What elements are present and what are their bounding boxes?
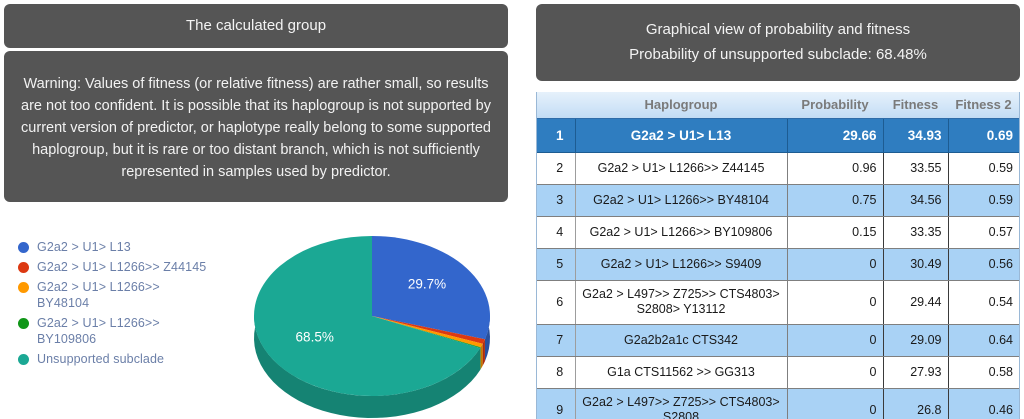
pie-top-layer [254, 236, 490, 396]
row-spacer [537, 324, 545, 356]
cell-probability: 0 [787, 324, 883, 356]
cell-fitness: 29.09 [883, 324, 948, 356]
table-row[interactable]: 5G2a2 > U1> L1266>> S9409030.490.56 [537, 248, 1019, 280]
warning-message: Warning: Values of fitness (or relative … [20, 73, 492, 183]
pie-slice-label: 29.7% [408, 276, 446, 291]
cell-fitness: 33.35 [883, 216, 948, 248]
cell-probability: 0.75 [787, 184, 883, 216]
row-spacer [537, 388, 545, 419]
legend-color-swatch-icon [18, 242, 29, 253]
cell-fitness2: 0.59 [948, 152, 1019, 184]
table-row[interactable]: 1G2a2 > U1> L1329.6634.930.69 [537, 118, 1019, 152]
row-spacer [537, 248, 545, 280]
pie-chart: 29.7%68.5% [232, 214, 512, 419]
graphical-view-panel: Graphical view of probability and fitnes… [536, 4, 1020, 81]
cell-fitness2: 0.56 [948, 248, 1019, 280]
cell-haplogroup: G2a2 > U1> L1266>> S9409 [575, 248, 787, 280]
results-table: Haplogroup Probability Fitness Fitness 2… [537, 92, 1019, 419]
legend-item-label: G2a2 > U1> L1266>> BY109806 [37, 315, 208, 347]
results-table-body: 1G2a2 > U1> L1329.6634.930.692G2a2 > U1>… [537, 118, 1019, 419]
cell-haplogroup: G2a2 > U1> L13 [575, 118, 787, 152]
pie-slice-depth [481, 344, 483, 370]
cell-fitness2: 0.54 [948, 280, 1019, 324]
cell-haplogroup: G2a2b2a1c CTS342 [575, 324, 787, 356]
legend-color-swatch-icon [18, 262, 29, 273]
pie-chart-legend: G2a2 > U1> L13G2a2 > U1> L1266>> Z44145G… [18, 239, 208, 371]
cell-fitness: 34.93 [883, 118, 948, 152]
cell-fitness2: 0.59 [948, 184, 1019, 216]
cell-probability: 0 [787, 248, 883, 280]
cell-fitness: 34.56 [883, 184, 948, 216]
row-spacer [537, 280, 545, 324]
results-table-container[interactable]: Haplogroup Probability Fitness Fitness 2… [536, 92, 1020, 419]
table-row[interactable]: 7G2a2b2a1c CTS342029.090.64 [537, 324, 1019, 356]
cell-probability: 0 [787, 280, 883, 324]
header-probability[interactable]: Probability [787, 92, 883, 118]
calculated-group-title: The calculated group [186, 17, 326, 34]
row-spacer [537, 152, 545, 184]
legend-item[interactable]: G2a2 > U1> L1266>> Z44145 [18, 259, 208, 275]
cell-fitness2: 0.69 [948, 118, 1019, 152]
cell-probability: 0 [787, 388, 883, 419]
cell-fitness: 29.44 [883, 280, 948, 324]
legend-color-swatch-icon [18, 282, 29, 293]
page-root: The calculated group Warning: Values of … [0, 0, 1024, 419]
row-index: 2 [545, 152, 575, 184]
legend-color-swatch-icon [18, 318, 29, 329]
header-fitness[interactable]: Fitness [883, 92, 948, 118]
cell-haplogroup: G2a2 > U1> L1266>> BY48104 [575, 184, 787, 216]
table-row[interactable]: 3G2a2 > U1> L1266>> BY481040.7534.560.59 [537, 184, 1019, 216]
pie-slice-label: 68.5% [296, 329, 334, 344]
legend-item-label: Unsupported subclade [37, 351, 164, 367]
row-index: 9 [545, 388, 575, 419]
legend-item[interactable]: G2a2 > U1> L1266>> BY48104 [18, 279, 208, 311]
row-index: 8 [545, 356, 575, 388]
cell-fitness2: 0.58 [948, 356, 1019, 388]
unsupported-subclade-probability: Probability of unsupported subclade: 68.… [536, 42, 1020, 68]
legend-item-label: G2a2 > U1> L1266>> Z44145 [37, 259, 206, 275]
legend-item[interactable]: G2a2 > U1> L13 [18, 239, 208, 255]
cell-haplogroup: G2a2 > L497>> Z725>> CTS4803> S2808 [575, 388, 787, 419]
header-haplogroup[interactable]: Haplogroup [575, 92, 787, 118]
cell-haplogroup: G1a CTS11562 >> GG313 [575, 356, 787, 388]
legend-color-swatch-icon [18, 354, 29, 365]
pie-chart-area: G2a2 > U1> L13G2a2 > U1> L1266>> Z44145G… [0, 210, 512, 419]
row-spacer [537, 216, 545, 248]
pie-chart-svg: 29.7%68.5% [232, 214, 512, 419]
cell-probability: 0.15 [787, 216, 883, 248]
cell-fitness: 27.93 [883, 356, 948, 388]
table-row[interactable]: 8G1a CTS11562 >> GG313027.930.58 [537, 356, 1019, 388]
table-row[interactable]: 6G2a2 > L497>> Z725>> CTS4803> S2808> Y1… [537, 280, 1019, 324]
legend-item-label: G2a2 > U1> L13 [37, 239, 131, 255]
pie-slice-depth [483, 339, 485, 366]
legend-item[interactable]: G2a2 > U1> L1266>> BY109806 [18, 315, 208, 347]
cell-fitness2: 0.46 [948, 388, 1019, 419]
cell-fitness: 33.55 [883, 152, 948, 184]
table-row[interactable]: 9G2a2 > L497>> Z725>> CTS4803> S2808026.… [537, 388, 1019, 419]
calculated-group-panel: The calculated group [4, 4, 508, 48]
row-index: 5 [545, 248, 575, 280]
header-index[interactable] [545, 92, 575, 118]
warning-panel: Warning: Values of fitness (or relative … [4, 51, 508, 202]
table-header-row: Haplogroup Probability Fitness Fitness 2 [537, 92, 1019, 118]
row-spacer [537, 184, 545, 216]
cell-haplogroup: G2a2 > U1> L1266>> BY109806 [575, 216, 787, 248]
row-spacer [537, 118, 545, 152]
legend-item[interactable]: Unsupported subclade [18, 351, 208, 367]
cell-probability: 0 [787, 356, 883, 388]
row-index: 1 [545, 118, 575, 152]
header-spacer [537, 92, 545, 118]
legend-item-label: G2a2 > U1> L1266>> BY48104 [37, 279, 208, 311]
row-index: 6 [545, 280, 575, 324]
header-fitness2[interactable]: Fitness 2 [948, 92, 1019, 118]
cell-fitness2: 0.57 [948, 216, 1019, 248]
table-row[interactable]: 4G2a2 > U1> L1266>> BY1098060.1533.350.5… [537, 216, 1019, 248]
table-row[interactable]: 2G2a2 > U1> L1266>> Z441450.9633.550.59 [537, 152, 1019, 184]
cell-fitness2: 0.64 [948, 324, 1019, 356]
cell-haplogroup: G2a2 > L497>> Z725>> CTS4803> S2808> Y13… [575, 280, 787, 324]
cell-probability: 0.96 [787, 152, 883, 184]
row-spacer [537, 356, 545, 388]
row-index: 4 [545, 216, 575, 248]
cell-fitness: 26.8 [883, 388, 948, 419]
results-table-head: Haplogroup Probability Fitness Fitness 2 [537, 92, 1019, 118]
cell-haplogroup: G2a2 > U1> L1266>> Z44145 [575, 152, 787, 184]
cell-fitness: 30.49 [883, 248, 948, 280]
row-index: 3 [545, 184, 575, 216]
row-index: 7 [545, 324, 575, 356]
cell-probability: 29.66 [787, 118, 883, 152]
graphical-view-title: Graphical view of probability and fitnes… [536, 18, 1020, 42]
